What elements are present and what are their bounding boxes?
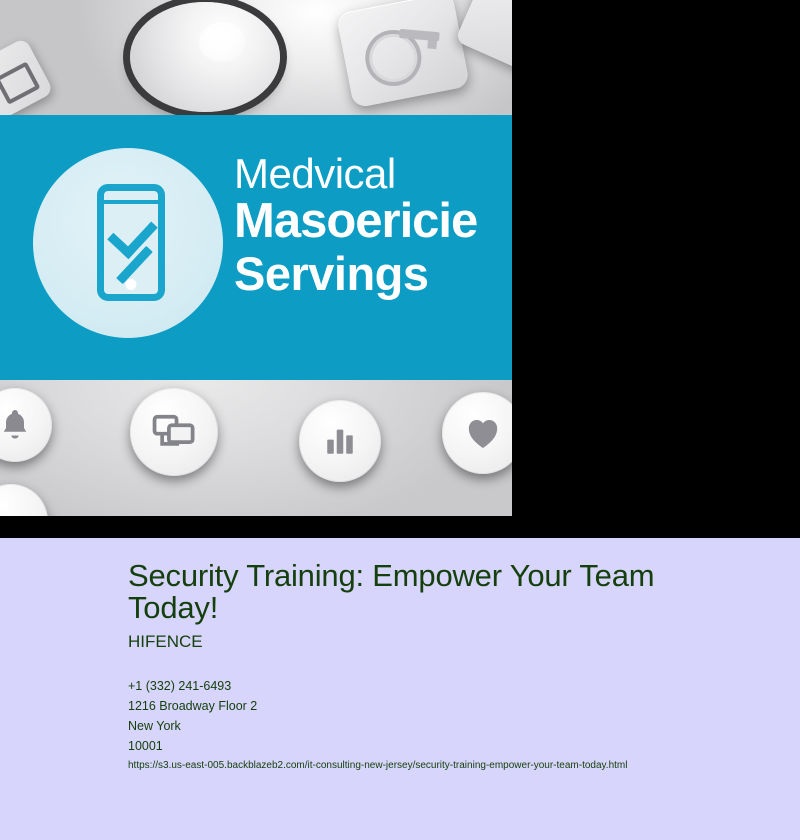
chat-icon	[130, 388, 218, 476]
magnifier-icon	[130, 2, 280, 112]
banner-badge-circle	[33, 148, 223, 338]
contact-city: New York	[128, 716, 257, 736]
source-url[interactable]: https://s3.us-east-005.backblazeb2.com/i…	[128, 760, 627, 771]
banner-line-1: Medvical	[234, 153, 512, 195]
smartphone-check-icon	[97, 184, 165, 301]
banner-line-3: Servings	[234, 250, 512, 297]
desk-surface-bottom	[0, 380, 512, 516]
phone-home-button	[126, 279, 137, 290]
contact-details: +1 (332) 241-6493 1216 Broadway Floor 2 …	[128, 676, 257, 756]
contact-zip: 10001	[128, 736, 257, 756]
banner-line-2: Masoericie	[234, 197, 512, 246]
banner-band: Medvical Masoericie Servings	[0, 115, 512, 380]
page-title: Security Training: Empower Your Team Tod…	[128, 560, 708, 624]
bar-chart-icon	[299, 400, 381, 482]
banner-title: Medvical Masoericie Servings	[234, 153, 512, 297]
article-block: Security Training: Empower Your Team Tod…	[0, 538, 800, 840]
brand-name: HIFENCE	[128, 632, 203, 652]
phone-status-bar	[104, 200, 158, 204]
media-stage: Medvical Masoericie Servings	[0, 0, 800, 538]
hero-image: Medvical Masoericie Servings	[0, 0, 512, 516]
contact-street: 1216 Broadway Floor 2	[128, 696, 257, 716]
contact-phone: +1 (332) 241-6493	[128, 676, 257, 696]
